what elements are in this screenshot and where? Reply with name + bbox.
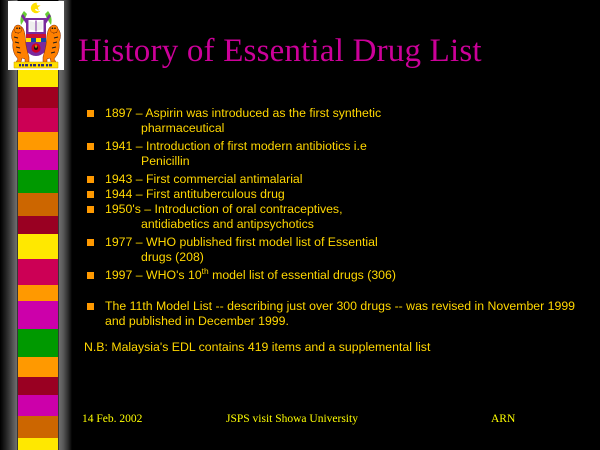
- color-strip-band: [18, 329, 58, 357]
- slide-footer: 14 Feb. 2002 JSPS visit Showa University…: [78, 413, 588, 431]
- square-bullet-icon: [87, 303, 94, 310]
- list-item: 1943 – First commercial antimalarial: [84, 172, 592, 187]
- nota-bene-note: N.B: Malaysia's EDL contains 419 items a…: [84, 340, 592, 355]
- list-item-superscript: 1997 – WHO's 10th model list of essentia…: [84, 268, 592, 283]
- footer-date: 14 Feb. 2002: [82, 413, 142, 425]
- list-item: 1897 – Aspirin was introduced as the fir…: [84, 106, 592, 136]
- list-item: 1977 – WHO published first model list of…: [84, 235, 592, 265]
- list-item-line1: 1897 – Aspirin was introduced as the fir…: [105, 106, 381, 120]
- list-item: 1944 – First antituberculous drug: [84, 187, 592, 202]
- color-strip-band: [18, 108, 58, 132]
- footer-event: JSPS visit Showa University: [226, 413, 358, 425]
- list-item: 1950's – Introduction of oral contracept…: [84, 202, 592, 232]
- color-strip-band: [18, 234, 58, 259]
- square-bullet-icon: [87, 191, 94, 198]
- list-item-line2: Penicillin: [105, 154, 592, 169]
- list-item-line2: drugs (208): [105, 250, 592, 265]
- color-strip-band: [18, 395, 58, 416]
- square-bullet-icon: [87, 110, 94, 117]
- color-strip-band: [18, 150, 58, 170]
- content-body: 1897 – Aspirin was introduced as the fir…: [84, 106, 592, 355]
- list-item-suffix: model list of essential drugs (306): [209, 268, 396, 282]
- paragraph-item: The 11th Model List -- describing just o…: [84, 299, 592, 328]
- list-item-line1: 1950's – Introduction of oral contracept…: [105, 202, 343, 216]
- list-item-line1: 1944 – First antituberculous drug: [105, 187, 285, 201]
- color-strip-band: [18, 87, 58, 108]
- color-strip-band: [18, 377, 58, 395]
- color-strip-band: [18, 170, 58, 193]
- color-strip-band: [18, 216, 58, 234]
- list-item-line2: pharmaceutical: [105, 121, 592, 136]
- square-bullet-icon: [87, 143, 94, 150]
- color-strip-band: [18, 259, 58, 285]
- color-strip-band: [18, 416, 58, 438]
- color-strip-band: [18, 357, 58, 377]
- slide-canvas: History of Essential Drug List 1897 – As…: [0, 0, 600, 450]
- page-title: History of Essential Drug List: [78, 31, 578, 71]
- ordinal-suffix: th: [202, 266, 209, 276]
- square-bullet-icon: [87, 239, 94, 246]
- list-item-line1: 1977 – WHO published first model list of…: [105, 235, 378, 249]
- spacer: [84, 283, 592, 299]
- paragraph-text: The 11th Model List -- describing just o…: [105, 299, 575, 328]
- list-item-line1: 1941 – Introduction of first modern anti…: [105, 139, 367, 153]
- color-strip-band: [18, 301, 58, 329]
- list-item: 1941 – Introduction of first modern anti…: [84, 139, 592, 169]
- square-bullet-icon: [87, 176, 94, 183]
- malaysia-coat-of-arms-icon: [8, 1, 64, 70]
- color-strip-band: [18, 438, 58, 450]
- square-bullet-icon: [87, 272, 94, 279]
- color-strip-band: [18, 132, 58, 150]
- list-item-line2: antidiabetics and antipsychotics: [105, 217, 592, 232]
- color-strip-band: [18, 70, 58, 87]
- spacer: [84, 328, 592, 340]
- square-bullet-icon: [87, 206, 94, 213]
- list-item-line1: 1943 – First commercial antimalarial: [105, 172, 303, 186]
- footer-author: ARN: [491, 413, 515, 425]
- color-strip-band: [18, 193, 58, 216]
- list-item-prefix: 1997 – WHO's 10: [105, 268, 202, 282]
- color-strip-band: [18, 285, 58, 301]
